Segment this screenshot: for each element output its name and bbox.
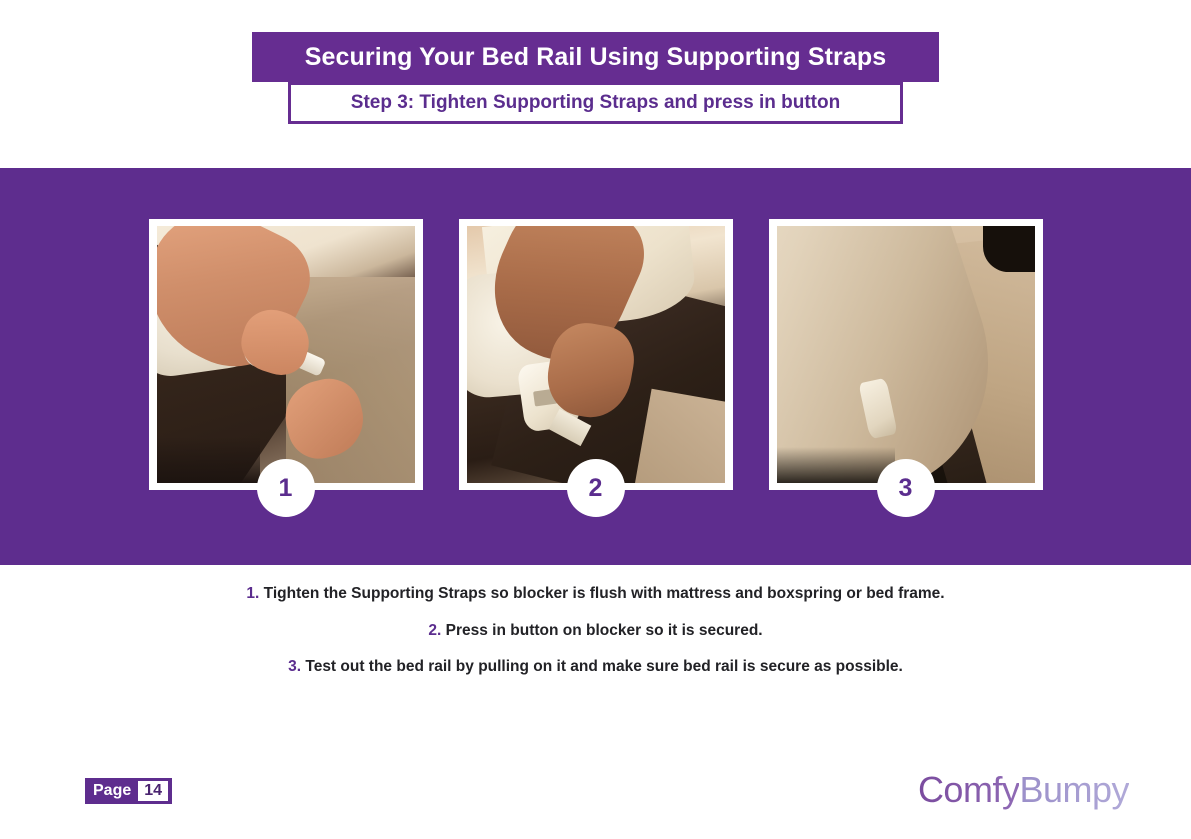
photo-badge-3: 3	[877, 459, 935, 517]
photo-frame-2	[459, 219, 733, 490]
photo-image-3	[777, 226, 1035, 483]
photo-card-1: 1	[149, 219, 423, 490]
photo-3-dark-corner	[983, 226, 1035, 272]
instruction-item-1: 1. Tighten the Supporting Straps so bloc…	[0, 585, 1191, 604]
photo-frame-1	[149, 219, 423, 490]
header-zone: Securing Your Bed Rail Using Supporting …	[0, 0, 1191, 168]
instruction-item-3: 3. Test out the bed rail by pulling on i…	[0, 658, 1191, 677]
photo-1-shadow	[157, 437, 260, 483]
instruction-item-2: 2. Press in button on blocker so it is s…	[0, 622, 1191, 641]
photo-band: 1 2	[0, 168, 1191, 565]
comfybumpy-logo: ComfyBumpy	[918, 769, 1129, 811]
instruction-number-1: 1.	[246, 585, 259, 602]
instruction-text-2: Press in button on blocker so it is secu…	[446, 622, 763, 639]
photo-row: 1 2	[0, 219, 1191, 490]
page-number-badge: Page 14	[85, 778, 172, 804]
photo-frame-3	[769, 219, 1043, 490]
instruction-text-1: Tighten the Supporting Straps so blocker…	[264, 585, 945, 602]
photo-card-2: 2	[459, 219, 733, 490]
logo-text-bumpy: Bumpy	[1019, 769, 1129, 810]
instruction-number-2: 2.	[428, 622, 441, 639]
page-title: Securing Your Bed Rail Using Supporting …	[305, 43, 887, 72]
photo-card-3: 3	[769, 219, 1043, 490]
step-subtitle: Step 3: Tighten Supporting Straps and pr…	[351, 92, 840, 114]
instruction-text-3: Test out the bed rail by pulling on it a…	[305, 658, 902, 675]
page-label: Page	[93, 778, 138, 804]
photo-image-1	[157, 226, 415, 483]
photo-badge-1: 1	[257, 459, 315, 517]
instruction-number-3: 3.	[288, 658, 301, 675]
logo-text-comfy: Comfy	[918, 769, 1020, 810]
page-title-bar: Securing Your Bed Rail Using Supporting …	[252, 32, 939, 82]
step-subtitle-box: Step 3: Tighten Supporting Straps and pr…	[288, 82, 903, 124]
photo-badge-2: 2	[567, 459, 625, 517]
photo-image-2	[467, 226, 725, 483]
page-number: 14	[138, 781, 168, 801]
instructions-list: 1. Tighten the Supporting Straps so bloc…	[0, 585, 1191, 695]
